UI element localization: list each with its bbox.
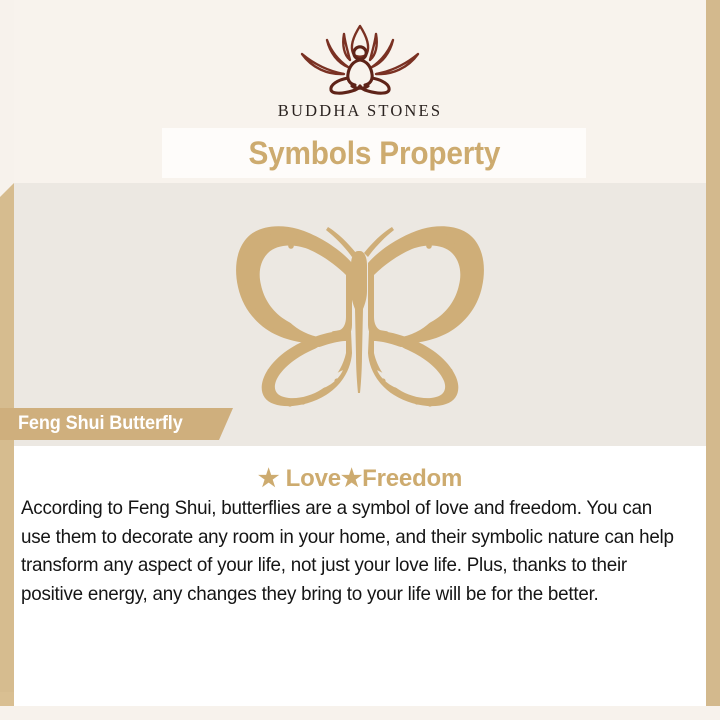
butterfly-icon bbox=[200, 191, 520, 411]
description-subheading: ★ Love★Freedom bbox=[14, 464, 706, 493]
description-paragraph: According to Feng Shui, butterflies are … bbox=[21, 494, 684, 608]
frame-left-accent bbox=[0, 183, 14, 706]
showcase-section bbox=[14, 183, 706, 446]
brand-logo: BUDDHA STONES bbox=[14, 22, 706, 121]
category-tag-label: Feng Shui Butterfly bbox=[18, 413, 183, 435]
description-section: ★ Love★Freedom According to Feng Shui, b… bbox=[14, 446, 706, 706]
category-tag: Feng Shui Butterfly bbox=[0, 408, 233, 440]
poster-root: BUDDHA STONES Symbols Property bbox=[0, 0, 720, 720]
brand-name: BUDDHA STONES bbox=[278, 101, 442, 121]
header-section: BUDDHA STONES Symbols Property bbox=[14, 0, 706, 183]
page-title-band: Symbols Property bbox=[162, 128, 586, 178]
frame-right-accent bbox=[706, 0, 720, 706]
lotus-meditation-icon bbox=[282, 22, 438, 96]
showcase-image bbox=[14, 191, 706, 411]
page-title: Symbols Property bbox=[248, 135, 500, 172]
